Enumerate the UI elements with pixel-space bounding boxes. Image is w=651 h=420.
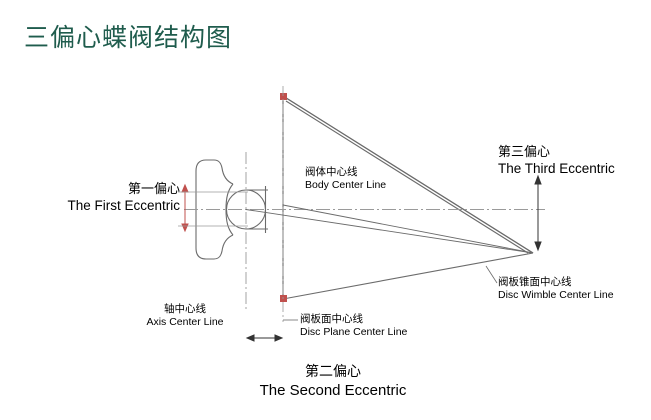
label-second-eccentric-cn: 第二偏心 xyxy=(188,364,478,382)
label-disc-wimble-center-line: 阀板锥面中心线 Disc Wimble Center Line xyxy=(498,276,614,302)
label-body-center-line: 阀体中心线 Body Center Line xyxy=(305,166,386,192)
label-second-eccentric-en: The Second Eccentric xyxy=(188,382,478,401)
third-eccentric-dimension xyxy=(535,176,541,250)
label-disc-plane-center-line-en: Disc Plane Center Line xyxy=(300,326,407,339)
first-eccentric-extension-lines xyxy=(178,192,248,226)
label-first-eccentric: 第一偏心 The First Eccentric xyxy=(8,182,180,215)
label-disc-wimble-center-line-cn: 阀板锥面中心线 xyxy=(498,276,614,289)
valve-disc-wedge xyxy=(283,96,533,299)
label-first-eccentric-cn: 第一偏心 xyxy=(8,182,180,198)
label-disc-plane-center-line: 阀板面中心线 Disc Plane Center Line xyxy=(300,313,407,339)
label-axis-center-line: 轴中心线 Axis Center Line xyxy=(135,303,235,329)
label-second-eccentric: 第二偏心 The Second Eccentric xyxy=(188,364,478,400)
label-third-eccentric: 第三偏心 The Third Eccentric xyxy=(498,145,648,178)
label-third-eccentric-cn: 第三偏心 xyxy=(498,145,648,161)
label-axis-center-line-en: Axis Center Line xyxy=(135,316,235,329)
second-eccentric-dimension xyxy=(247,335,282,341)
label-disc-plane-center-line-cn: 阀板面中心线 xyxy=(300,313,407,326)
diagram-canvas: 三偏心蝶阀结构图 xyxy=(0,0,651,420)
label-axis-center-line-cn: 轴中心线 xyxy=(135,303,235,316)
label-disc-wimble-center-line-en: Disc Wimble Center Line xyxy=(498,289,614,302)
label-body-center-line-en: Body Center Line xyxy=(305,179,386,192)
label-first-eccentric-en: The First Eccentric xyxy=(8,198,180,215)
label-third-eccentric-en: The Third Eccentric xyxy=(498,161,648,178)
label-body-center-line-cn: 阀体中心线 xyxy=(305,166,386,179)
